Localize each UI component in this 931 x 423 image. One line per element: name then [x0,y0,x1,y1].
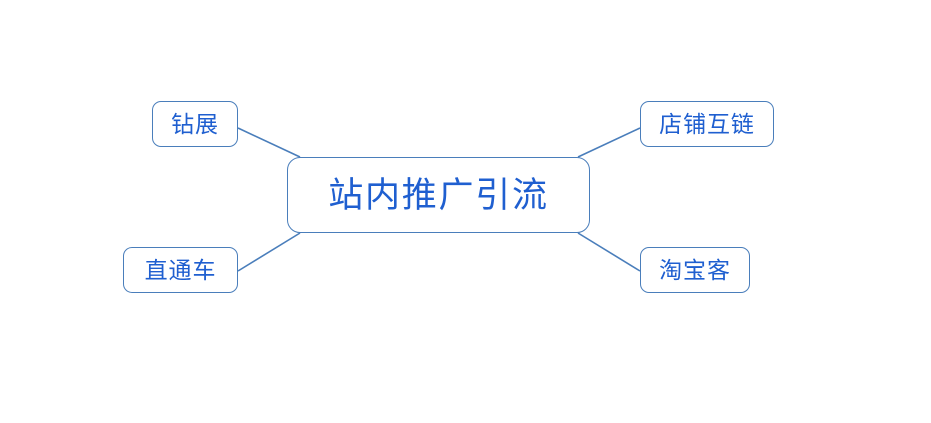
node-dianpuhulian[interactable]: 店铺互链 [640,101,774,147]
connector-center-to-dianpuhulian [578,128,640,157]
node-zhitongche-label: 直通车 [145,259,217,282]
diagram-canvas: 钻展 店铺互链 站内推广引流 直通车 淘宝客 [0,0,931,423]
node-center-label: 站内推广引流 [328,178,549,213]
node-zhitongche[interactable]: 直通车 [123,247,238,293]
connector-center-to-zhanzhan [238,128,300,157]
node-dianpuhulian-label: 店铺互链 [659,113,755,136]
connector-center-to-zhitongche [238,233,300,271]
node-center-station-promotion[interactable]: 站内推广引流 [287,157,590,233]
connector-center-to-taobaoke [578,233,640,271]
node-zhanzhan-label: 钻展 [171,113,219,136]
node-zhanzhan[interactable]: 钻展 [152,101,238,147]
node-taobaoke-label: 淘宝客 [659,259,731,282]
node-taobaoke[interactable]: 淘宝客 [640,247,750,293]
